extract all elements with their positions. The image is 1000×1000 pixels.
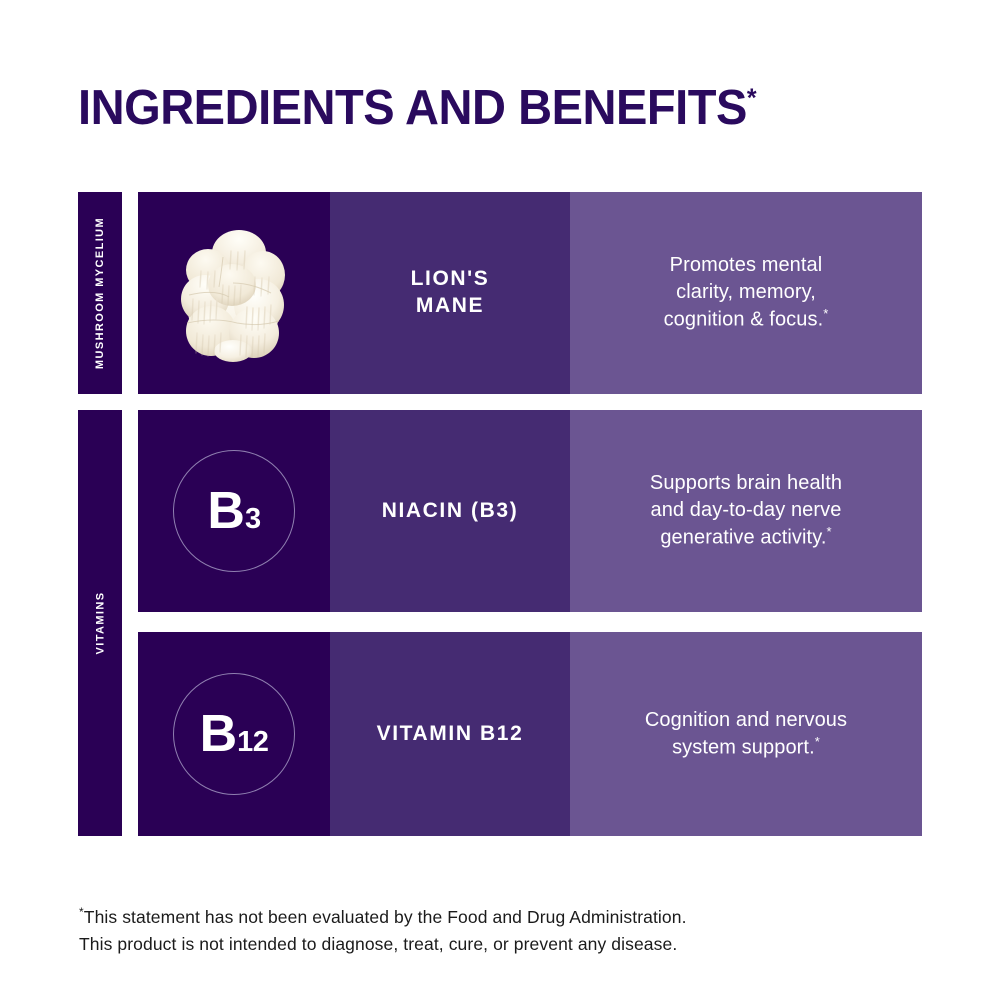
ingredient-benefit-cell: Cognition and nervous system support.* — [570, 632, 922, 836]
benefit-line2: and day-to-day nerve — [650, 499, 841, 521]
ingredient-icon-cell — [138, 192, 330, 394]
vitamin-badge-main: B — [200, 708, 237, 760]
benefit-asterisk: * — [826, 524, 831, 539]
infographic-page: INGREDIENTS AND BENEFITS* MUSHROOM MYCEL… — [0, 0, 1000, 1000]
category-label-vitamins: VITAMINS — [94, 592, 106, 655]
category-label-mushroom-mycelium: MUSHROOM MYCELIUM — [94, 217, 106, 369]
ingredient-icon-cell: B12 — [138, 632, 330, 836]
ingredient-name: VITAMIN B12 — [377, 721, 524, 748]
ingredient-name-line2: MANE — [416, 294, 484, 317]
lions-mane-mushroom-icon — [175, 223, 293, 363]
vitamin-badge-main: B — [207, 485, 244, 537]
ingredient-benefit: Promotes mental clarity, memory, cogniti… — [646, 252, 847, 333]
ingredient-benefit: Cognition and nervous system support.* — [627, 707, 865, 762]
category-sidebar-vitamins: VITAMINS — [78, 410, 122, 836]
page-title: INGREDIENTS AND BENEFITS* — [78, 84, 757, 133]
ingredient-benefit-cell: Supports brain health and day-to-day ner… — [570, 410, 922, 612]
benefit-line2: clarity, memory, — [676, 281, 816, 303]
vitamin-badge-subscript: 3 — [245, 505, 261, 534]
benefit-asterisk: * — [815, 734, 820, 749]
ingredient-name-line1: LION'S — [411, 267, 490, 290]
benefit-line1: Cognition and nervous — [645, 709, 847, 731]
benefit-line2: system support. — [672, 737, 815, 759]
vitamin-badge-text: B12 — [200, 708, 269, 760]
vitamin-b3-badge-icon: B3 — [173, 450, 295, 572]
ingredient-benefit-cell: Promotes mental clarity, memory, cogniti… — [570, 192, 922, 394]
page-title-asterisk: * — [747, 83, 757, 113]
page-title-text: INGREDIENTS AND BENEFITS — [78, 81, 747, 135]
ingredient-name-cell: NIACIN (B3) — [330, 410, 570, 612]
disclaimer-line-1: *This statement has not been evaluated b… — [79, 903, 687, 931]
vitamin-b12-badge-icon: B12 — [173, 673, 295, 795]
disclaimer: *This statement has not been evaluated b… — [79, 903, 687, 958]
table-row: LION'S MANE Promotes mental clarity, mem… — [138, 192, 922, 394]
benefit-line3: generative activity. — [660, 527, 826, 549]
benefit-line1: Supports brain health — [650, 472, 842, 494]
disclaimer-text-1: This statement has not been evaluated by… — [84, 907, 687, 927]
vitamin-badge-subscript: 12 — [237, 728, 268, 757]
ingredient-name-cell: VITAMIN B12 — [330, 632, 570, 836]
benefit-line1: Promotes mental — [670, 254, 823, 276]
table-row: B12 VITAMIN B12 Cognition and nervous sy… — [138, 632, 922, 836]
vitamin-badge-text: B3 — [207, 485, 260, 537]
category-sidebar-mushroom-mycelium: MUSHROOM MYCELIUM — [78, 192, 122, 394]
ingredient-name: LION'S MANE — [411, 266, 490, 320]
disclaimer-line-2: This product is not intended to diagnose… — [79, 931, 687, 958]
ingredient-icon-cell: B3 — [138, 410, 330, 612]
table-row: B3 NIACIN (B3) Supports brain health and… — [138, 410, 922, 612]
ingredient-name: NIACIN (B3) — [382, 498, 519, 525]
ingredient-benefit: Supports brain health and day-to-day ner… — [632, 470, 860, 551]
benefit-asterisk: * — [823, 306, 828, 321]
ingredients-table: MUSHROOM MYCELIUM VITAMINS — [78, 192, 922, 836]
benefit-line3: cognition & focus. — [664, 309, 824, 331]
ingredient-name-cell: LION'S MANE — [330, 192, 570, 394]
